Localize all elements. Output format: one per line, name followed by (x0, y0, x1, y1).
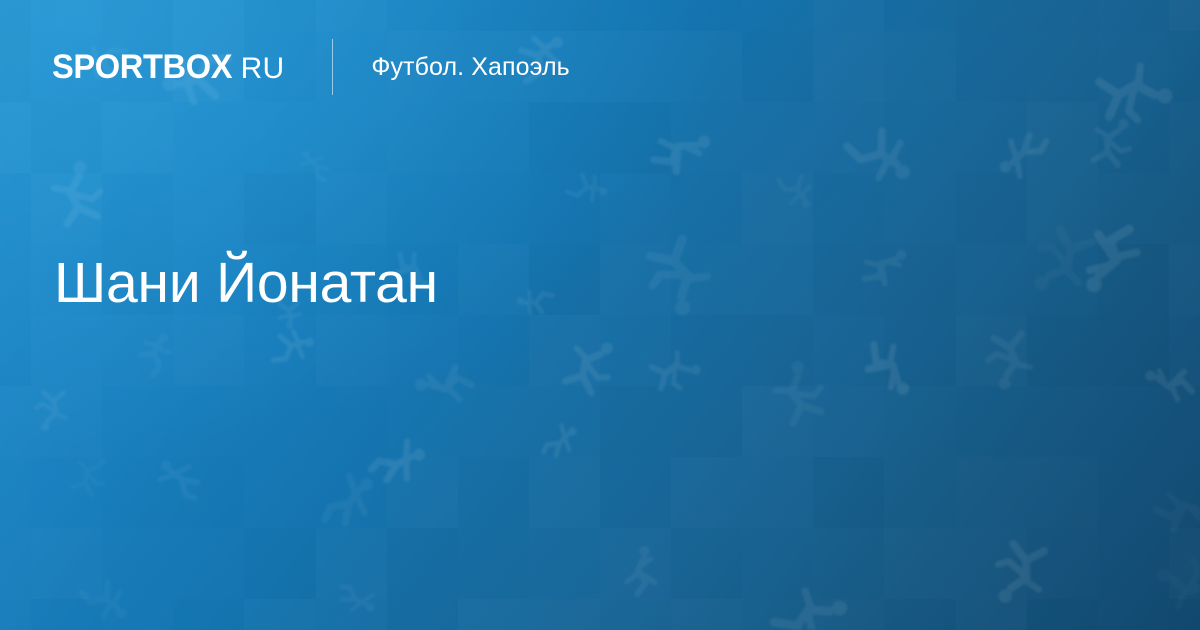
sportbox-logo[interactable]: SPORTBOXRU (52, 50, 284, 84)
logo-suffix-text: RU (241, 54, 285, 84)
header-divider (332, 39, 333, 95)
page-title: Шани Йонатан (54, 255, 438, 312)
card-content: SPORTBOXRU Футбол. Хапоэль Шани Йонатан (0, 0, 1200, 630)
logo-main-text: SPORTBOX (52, 50, 232, 84)
header-subtitle: Футбол. Хапоэль (371, 55, 569, 80)
header: SPORTBOXRU Футбол. Хапоэль (52, 38, 570, 96)
share-card: SPORTBOXRU Футбол. Хапоэль Шани Йонатан (0, 0, 1200, 630)
